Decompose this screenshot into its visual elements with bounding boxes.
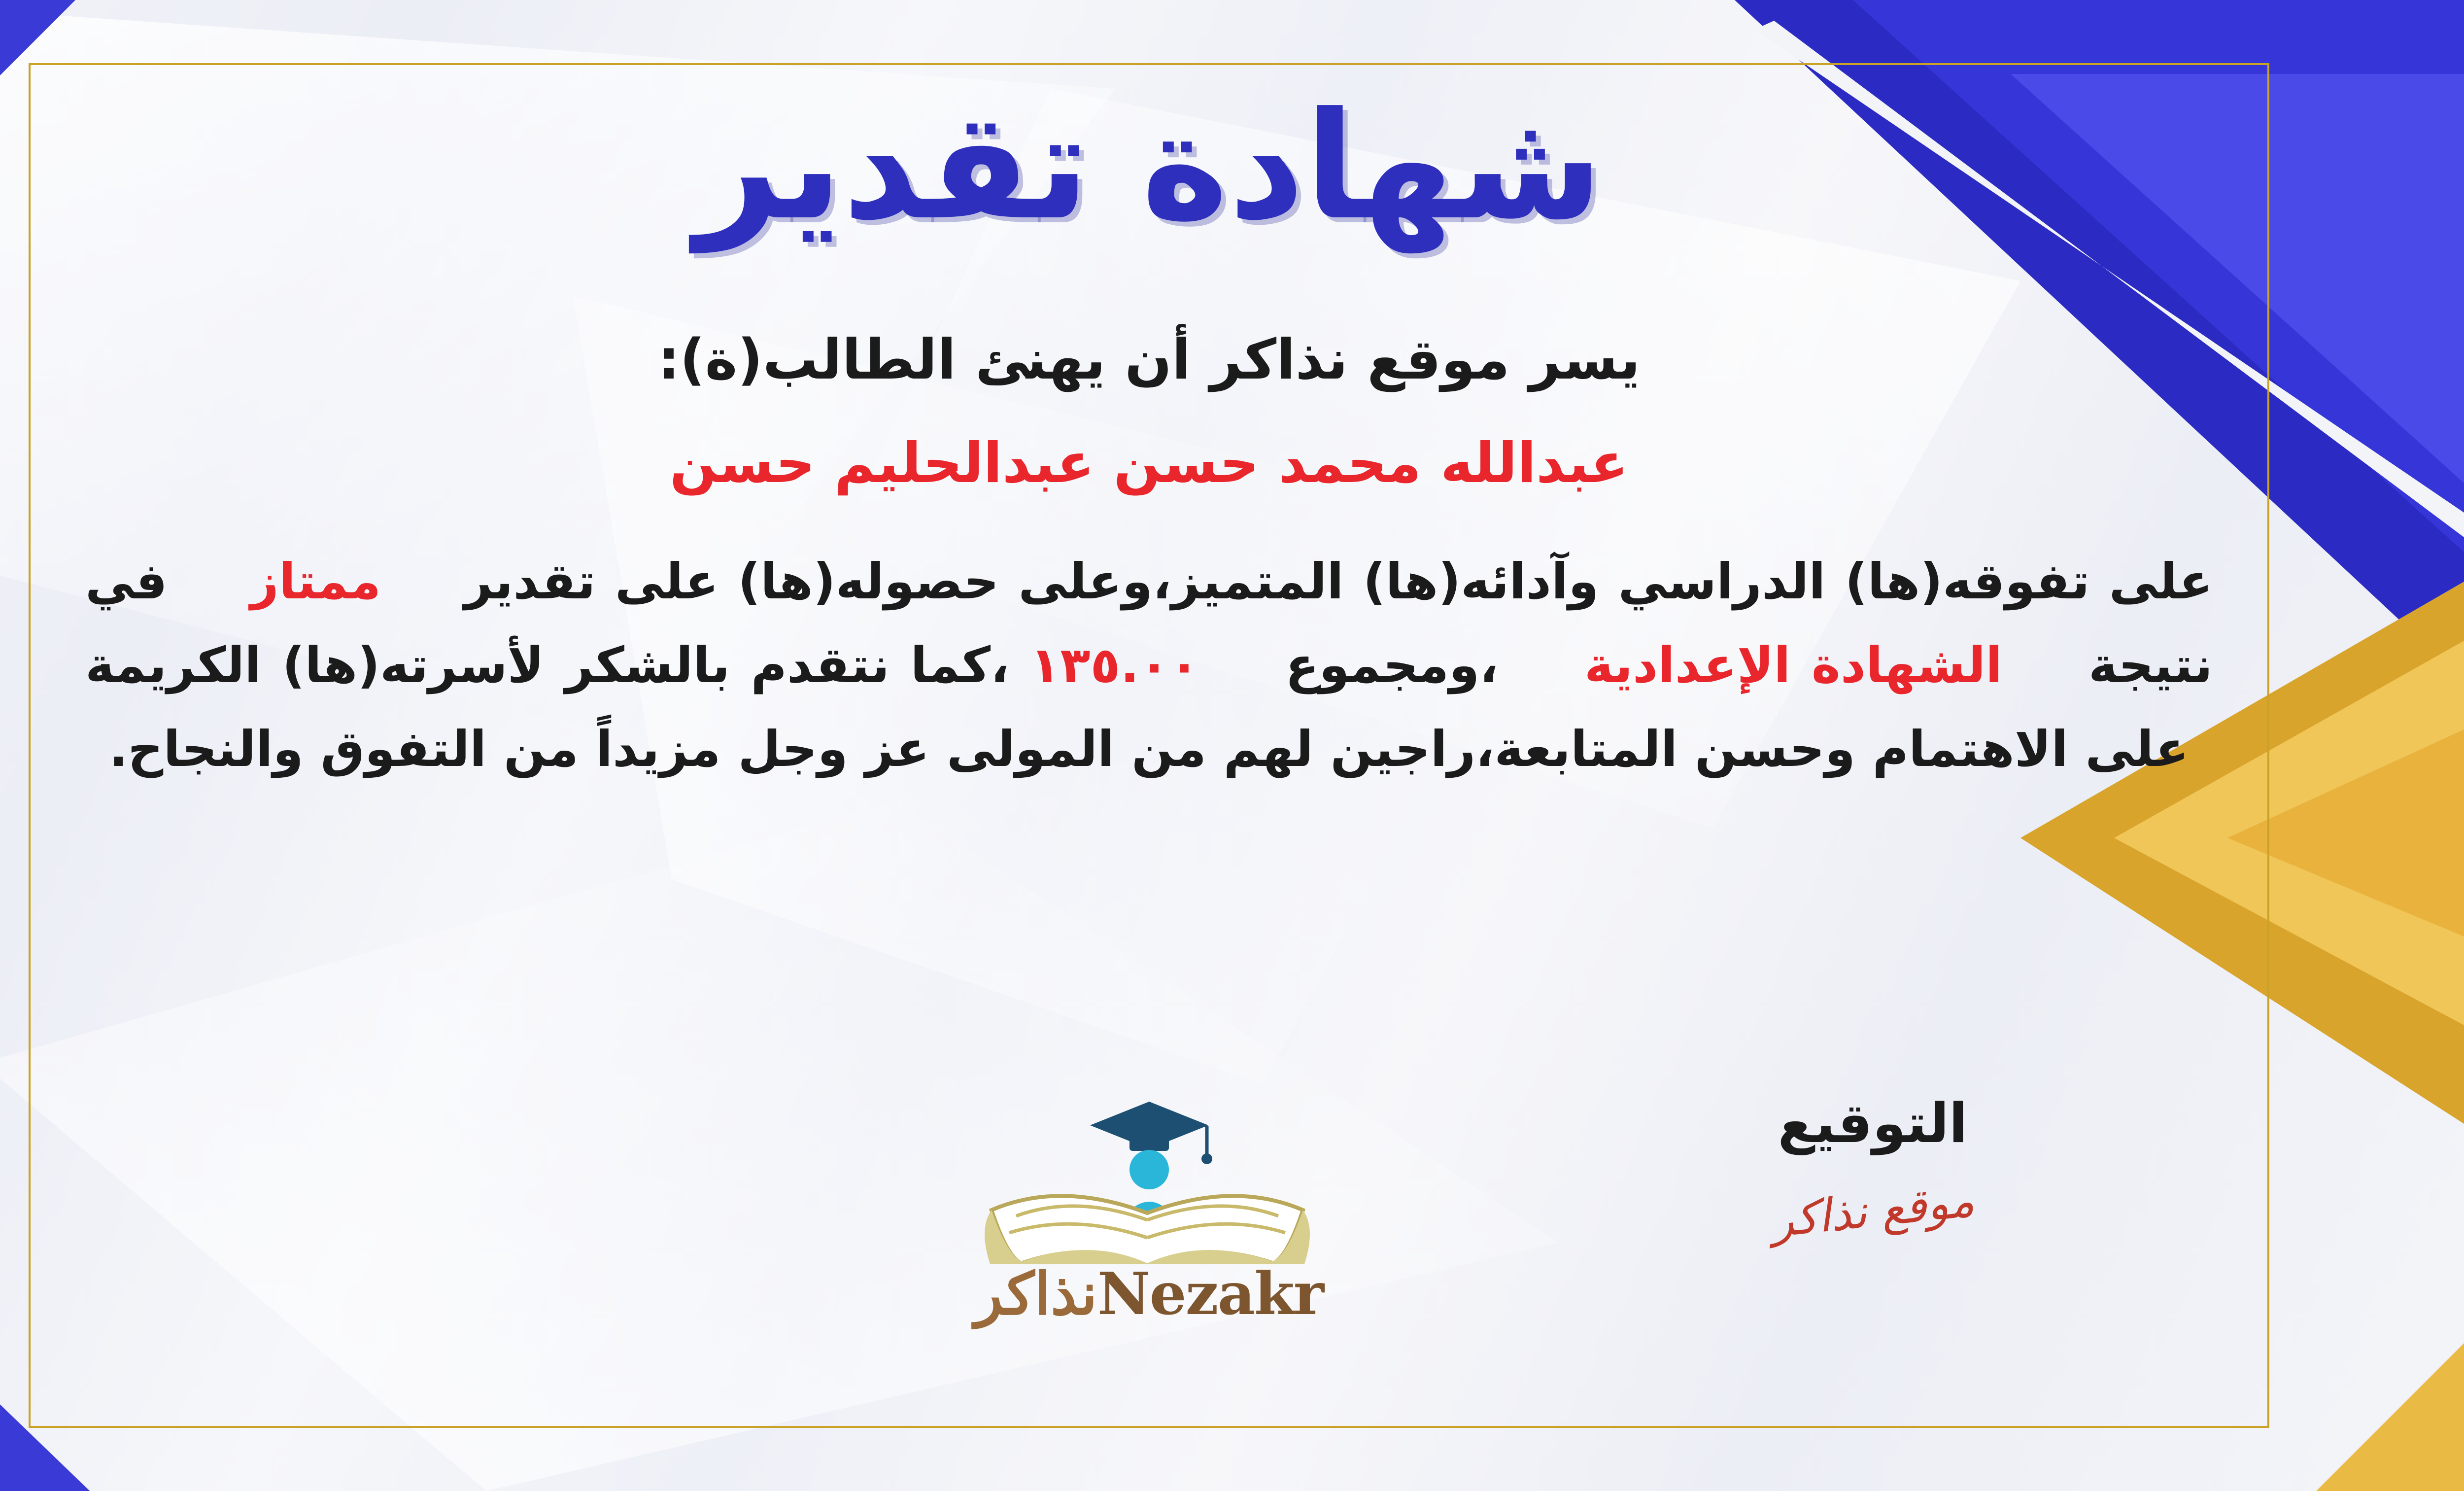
signature-block: التوقيع موقع نذاكر xyxy=(1700,1092,2045,1237)
body-part-1: على تفوقه(ها) الدراسي وآدائه(ها) المتميز… xyxy=(464,553,2213,610)
total-score: ١٣٥.٠٠ xyxy=(1030,636,1199,694)
corner-decoration-bottom-right xyxy=(2208,1284,2464,1491)
body-part-3: ،ومجموع xyxy=(1285,636,1498,694)
graduation-book-icon xyxy=(962,1087,1336,1264)
logo-wordmark: Nezakrنذاكر xyxy=(903,1259,1396,1328)
logo-arabic: نذاكر xyxy=(975,1259,1097,1328)
signature-script: موقع نذاكر xyxy=(1698,1167,2047,1255)
certificate-title: شهادة تقدير xyxy=(66,89,2232,244)
intro-line: يسر موقع نذاكر أن يهنئ الطالب(ة): xyxy=(66,328,2232,392)
certificate-canvas: شهادة تقدير يسر موقع نذاكر أن يهنئ الطال… xyxy=(0,0,2464,1491)
student-name: عبدالله محمد حسن عبدالحليم حسن xyxy=(66,431,2232,495)
certificate-footer: التوقيع موقع نذاكر xyxy=(66,1087,2232,1402)
certificate-body: على تفوقه(ها) الدراسي وآدائه(ها) المتميز… xyxy=(66,540,2232,791)
logo-latin: Nezakr xyxy=(1097,1259,1323,1328)
body-paragraph: على تفوقه(ها) الدراسي وآدائه(ها) المتميز… xyxy=(85,540,2213,791)
signature-label: التوقيع xyxy=(1700,1092,2045,1155)
site-logo: Nezakrنذاكر xyxy=(903,1087,1396,1328)
grade-value: ممتاز xyxy=(250,553,381,610)
exam-name: الشهادة الإعدادية xyxy=(1584,636,2002,694)
certificate-content: شهادة تقدير يسر موقع نذاكر أن يهنئ الطال… xyxy=(66,74,2232,1417)
